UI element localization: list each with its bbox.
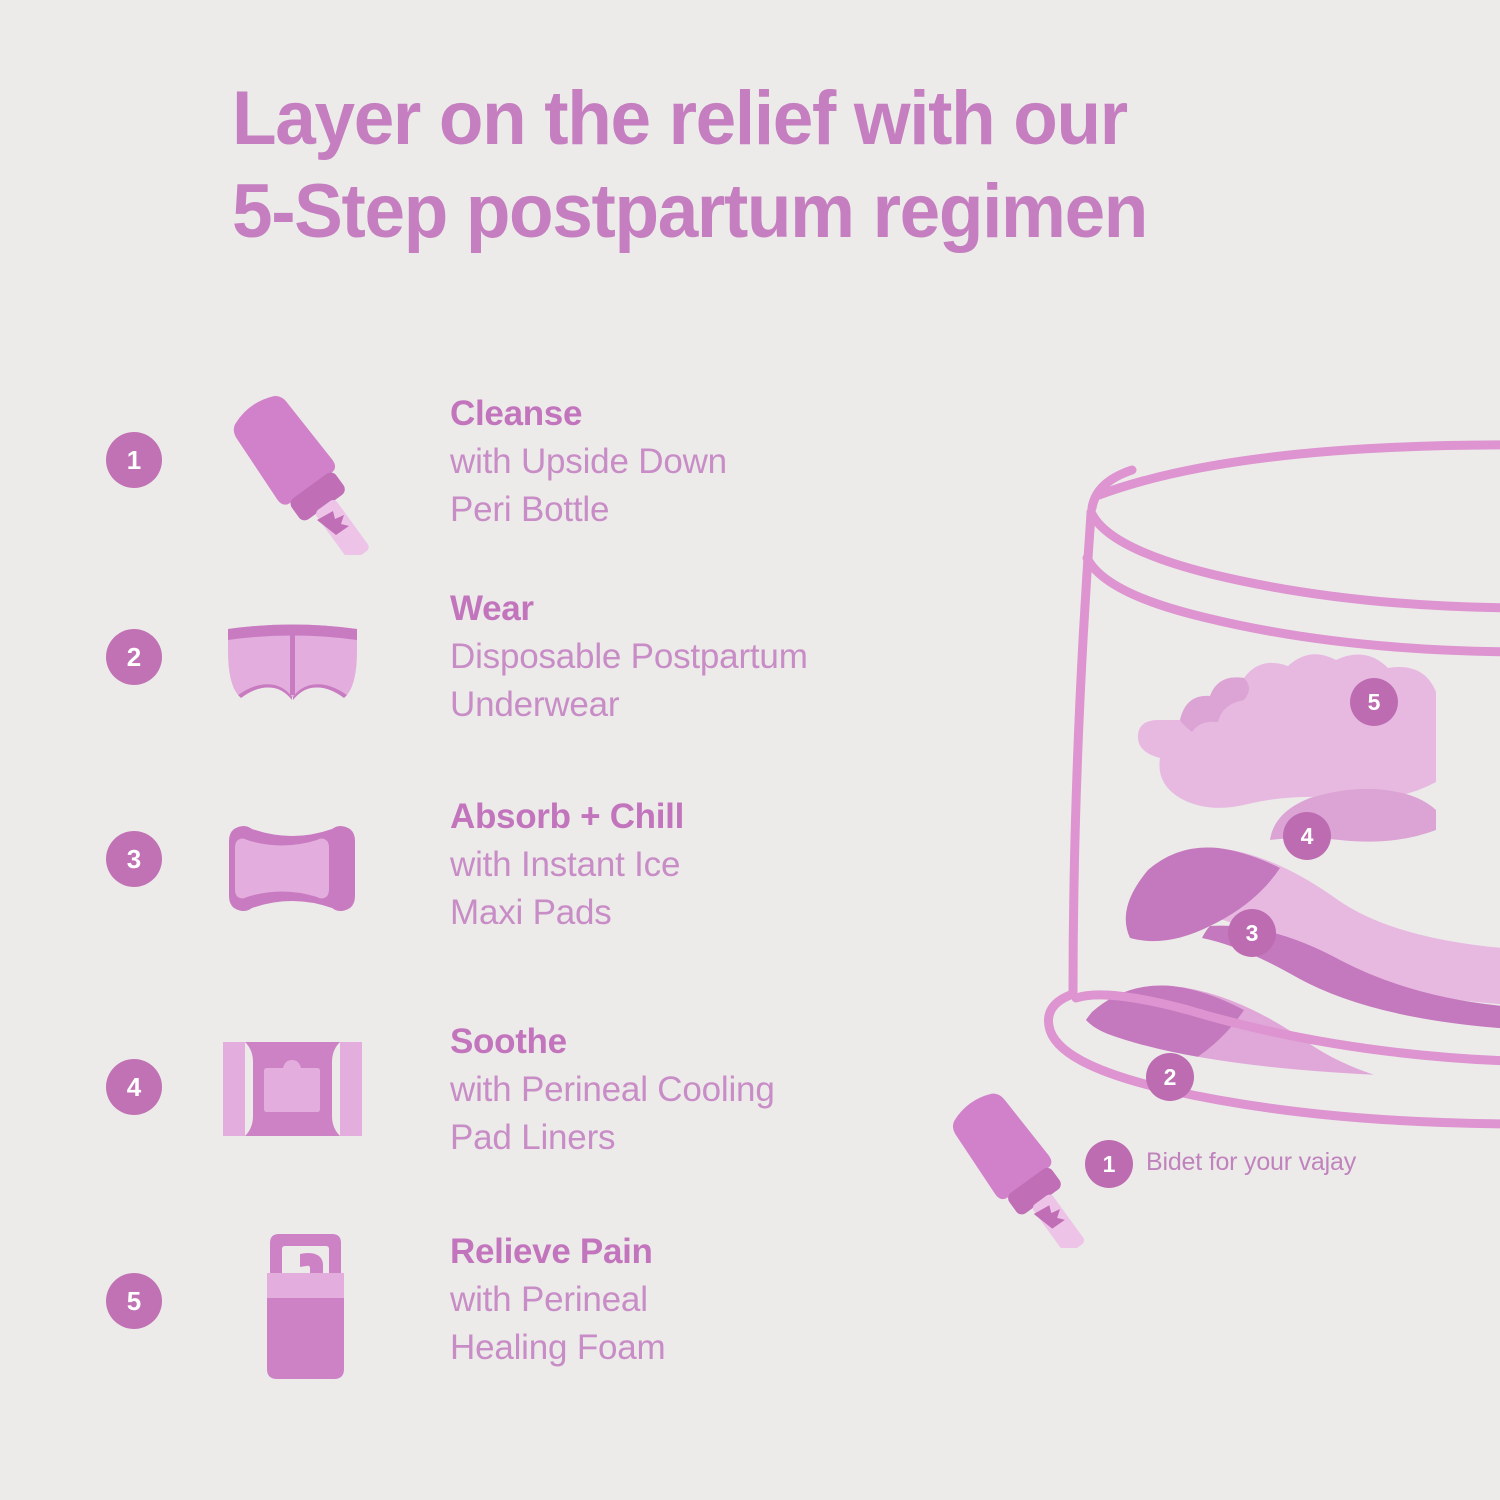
underwear-icon xyxy=(205,573,380,748)
step-text-4: Soothe with Perineal Cooling Pad Liners xyxy=(450,1018,920,1162)
pad-liner-pack-icon xyxy=(205,1006,380,1181)
foam-bottle-icon xyxy=(218,1216,393,1391)
step-sub-5b: Healing Foam xyxy=(450,1324,920,1372)
step-heading-1: Cleanse xyxy=(450,390,920,438)
step-text-2: Wear Disposable Postpartum Underwear xyxy=(450,585,920,729)
step-sub-3b: Maxi Pads xyxy=(450,889,920,937)
step-sub-3a: with Instant Ice xyxy=(450,841,920,889)
peri-bottle-icon xyxy=(205,380,380,555)
step-text-5: Relieve Pain with Perineal Healing Foam xyxy=(450,1228,920,1372)
infographic-canvas: Layer on the relief with our 5-Step post… xyxy=(0,0,1500,1500)
step-sub-2b: Underwear xyxy=(450,681,920,729)
title-line-2: 5-Step postpartum regimen xyxy=(232,165,1317,258)
step-sub-5a: with Perineal xyxy=(450,1276,920,1324)
title-line-1: Layer on the relief with our xyxy=(232,72,1317,165)
step-badge-2: 2 xyxy=(106,629,162,685)
step-sub-4b: Pad Liners xyxy=(450,1114,920,1162)
step-sub-4a: with Perineal Cooling xyxy=(450,1066,920,1114)
layer-5-foam xyxy=(1138,654,1436,841)
step-sub-1a: with Upside Down xyxy=(450,438,920,486)
step-heading-5: Relieve Pain xyxy=(450,1228,920,1276)
step-sub-2a: Disposable Postpartum xyxy=(450,633,920,681)
step-badge-3: 3 xyxy=(106,831,162,887)
step-badge-1: 1 xyxy=(106,432,162,488)
callout-badge-2: 2 xyxy=(1146,1053,1194,1101)
step-text-1: Cleanse with Upside Down Peri Bottle xyxy=(450,390,920,534)
step-badge-5: 5 xyxy=(106,1273,162,1329)
callout-badge-4: 4 xyxy=(1283,812,1331,860)
step-heading-2: Wear xyxy=(450,585,920,633)
step-item-4: 4 Soothe with Perineal Cooling Pad Liner… xyxy=(0,1006,930,1196)
step-sub-1b: Peri Bottle xyxy=(450,486,920,534)
step-heading-4: Soothe xyxy=(450,1018,920,1066)
callout-badge-5: 5 xyxy=(1350,678,1398,726)
step-item-2: 2 Wear Disposable Postpartum Underwear xyxy=(0,573,930,763)
page-title: Layer on the relief with our 5-Step post… xyxy=(232,72,1362,258)
peri-bottle-icon-illustration xyxy=(925,1078,1095,1248)
step-badge-4: 4 xyxy=(106,1059,162,1115)
step-item-5: 5 Relieve Pain with Perineal Healing Foa… xyxy=(0,1216,930,1406)
maxi-pad-icon xyxy=(205,781,380,956)
step-text-3: Absorb + Chill with Instant Ice Maxi Pad… xyxy=(450,793,920,937)
step-heading-3: Absorb + Chill xyxy=(450,793,920,841)
step-item-1: 1 Cleanse with Upside Down Peri Bottle xyxy=(0,378,930,568)
callout-badge-1: 1 xyxy=(1085,1140,1133,1188)
callout-label-1: Bidet for your vajay xyxy=(1146,1148,1356,1177)
callout-badge-3: 3 xyxy=(1228,909,1276,957)
step-item-3: 3 Absorb + Chill with Instant Ice Maxi P… xyxy=(0,781,930,971)
